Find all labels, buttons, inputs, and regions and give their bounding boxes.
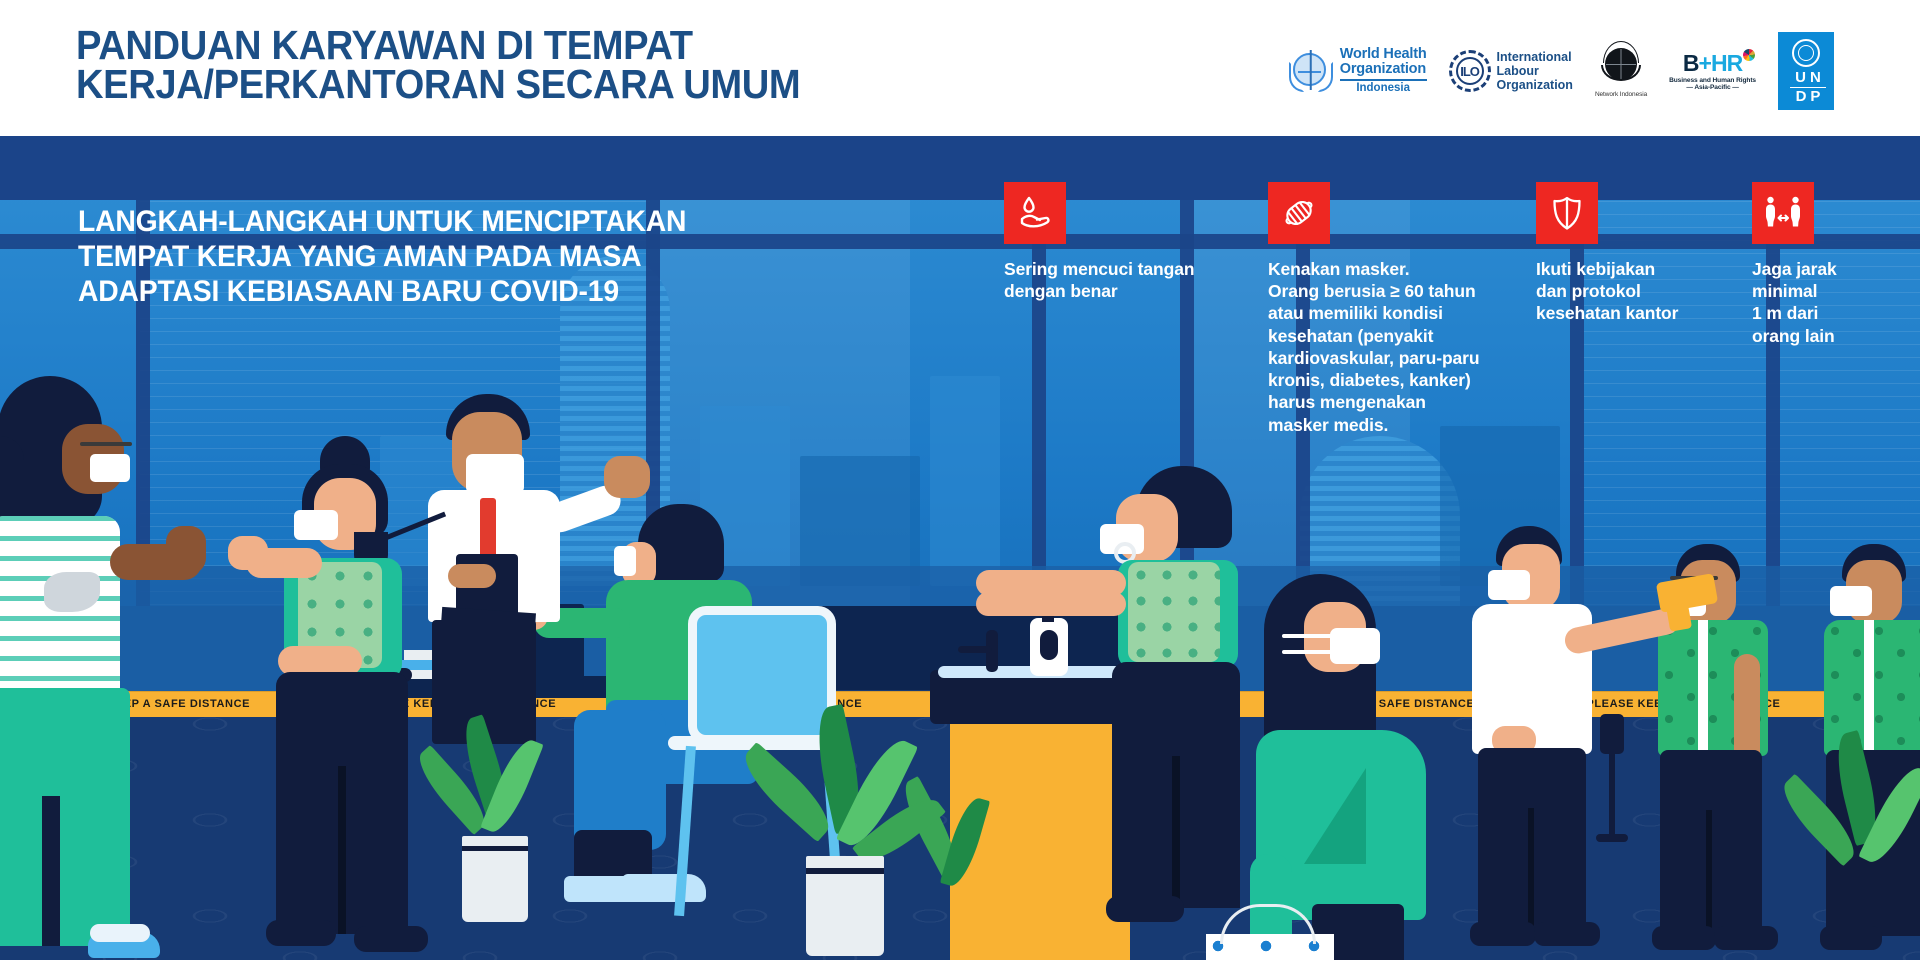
handwash-icon — [1004, 182, 1066, 244]
who-divider — [1340, 79, 1427, 81]
poster-header: PANDUAN KARYAWAN DI TEMPAT KERJA/PERKANT… — [0, 0, 1920, 136]
ilo-emblem-icon: ILO — [1449, 50, 1491, 92]
ilo-monogram: ILO — [1449, 50, 1491, 92]
callout-policy: Ikuti kebijakan dan protokol kesehatan k… — [1536, 182, 1736, 325]
figure-hijab-woman — [1226, 574, 1476, 960]
callout-handwash-text: Sering mencuci tangan dengan benar — [1004, 258, 1224, 302]
plant-left — [420, 716, 570, 960]
bhr-logo: B+HR Business and Human Rights — Asia-Pa… — [1669, 52, 1756, 91]
logo-strip: World Health Organization Indonesia ILO … — [1288, 26, 1834, 116]
bhr-b: B — [1683, 50, 1699, 76]
callout-policy-text: Ikuti kebijakan dan protokol kesehatan k… — [1536, 258, 1736, 325]
global-compact-caption: Network Indonesia — [1595, 91, 1647, 98]
callout-handwash: Sering mencuci tangan dengan benar — [1004, 182, 1224, 302]
poster-headline: LANGKAH-LANGKAH UNTUK MENCIPTAKAN TEMPAT… — [78, 204, 769, 309]
globe-laurel-icon — [1601, 44, 1641, 90]
callout-mask: Kenakan masker. Orang berusia ≥ 60 tahun… — [1268, 182, 1518, 436]
bhr-sub1: Business and Human Rights — [1669, 77, 1756, 84]
ilo-line1: International — [1497, 50, 1573, 64]
who-emblem-icon — [1288, 48, 1334, 94]
face-mask-icon — [1268, 182, 1330, 244]
sdg-wheel-icon — [1743, 49, 1755, 61]
un-emblem-icon — [1792, 39, 1820, 67]
undp-letters: UN DP — [1778, 70, 1834, 105]
figure-woman-striped — [0, 376, 200, 960]
plant-center — [756, 706, 946, 960]
shield-icon — [1536, 182, 1598, 244]
who-logo: World Health Organization Indonesia — [1288, 47, 1427, 94]
bhr-hr: HR — [1711, 50, 1742, 76]
background-building — [930, 376, 1000, 586]
callout-mask-text: Kenakan masker. Orang berusia ≥ 60 tahun… — [1268, 258, 1518, 436]
ilo-line3: Organization — [1497, 78, 1573, 92]
global-compact-logo: Network Indonesia — [1595, 44, 1647, 98]
plant-right — [1790, 732, 1920, 960]
page-title: PANDUAN KARYAWAN DI TEMPAT KERJA/PERKANT… — [76, 26, 876, 105]
poster-illustration: PLEASE KEEP A SAFE DISTANCE PLEASE KEEP … — [0, 136, 1920, 960]
bhr-wordmark: B+HR — [1683, 52, 1742, 75]
who-line1: World Health — [1340, 47, 1427, 62]
bhr-sub2: — Asia-Pacific — — [1669, 84, 1756, 91]
who-country: Indonesia — [1340, 83, 1427, 95]
figure-man-thermometer — [1472, 526, 1722, 956]
who-line2: Organization — [1340, 62, 1427, 77]
callout-distance-text: Jaga jarak minimal 1 m dari orang lain — [1752, 258, 1920, 347]
ilo-line2: Labour — [1497, 64, 1573, 78]
bhr-plus: + — [1699, 50, 1711, 76]
callout-distance: Jaga jarak minimal 1 m dari orang lain — [1752, 182, 1920, 347]
social-distance-icon — [1752, 182, 1814, 244]
undp-logo: UN DP — [1778, 32, 1834, 110]
ilo-logo: ILO International Labour Organization — [1449, 50, 1573, 92]
